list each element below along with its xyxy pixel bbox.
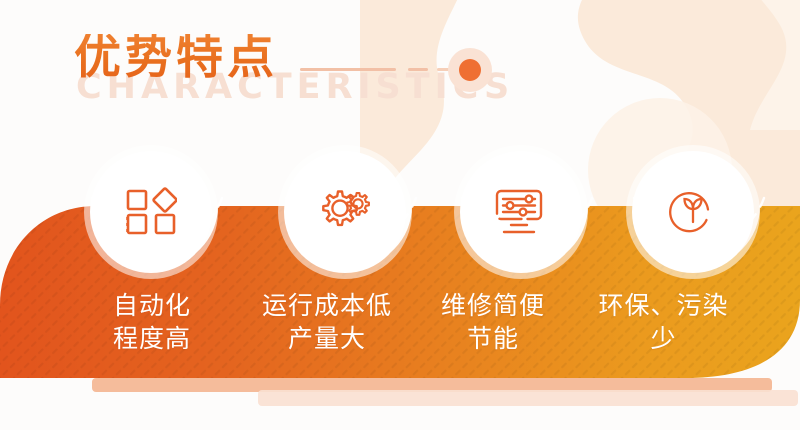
feature-label-4: 环保、污染 少 [576,289,751,355]
feature-label-2: 运行成本低 产量大 [232,289,422,355]
feature-circle-1[interactable] [90,151,212,273]
squares-diamond-icon [125,187,177,237]
feature-icon-wrap-4 [632,151,754,273]
feature-label-1: 自动化 程度高 [72,289,232,355]
header: CHARACTERISTICS 优势特点 [0,0,800,140]
sliders-monitor-icon [495,187,547,237]
feature-icon-wrap-2 [284,151,406,273]
title-dot [459,59,481,81]
title-rule-dash-1 [408,68,428,71]
gears-icon [318,187,372,237]
feature-icon-wrap-3 [460,151,582,273]
feature-circle-4[interactable] [632,151,754,273]
panel-shadow-lower [258,390,798,406]
poster-canvas: CHARACTERISTICS 优势特点 [0,0,800,430]
feature-circle-3[interactable] [460,151,582,273]
feature-label-3: 维修简便 节能 [418,289,568,355]
sprout-circle-icon [668,187,718,237]
page-title-block: CHARACTERISTICS 优势特点 [74,34,278,104]
feature-circle-2[interactable] [284,151,406,273]
page-title: 优势特点 [74,34,278,81]
title-rule [300,68,396,71]
feature-icon-wrap-1 [90,151,212,273]
